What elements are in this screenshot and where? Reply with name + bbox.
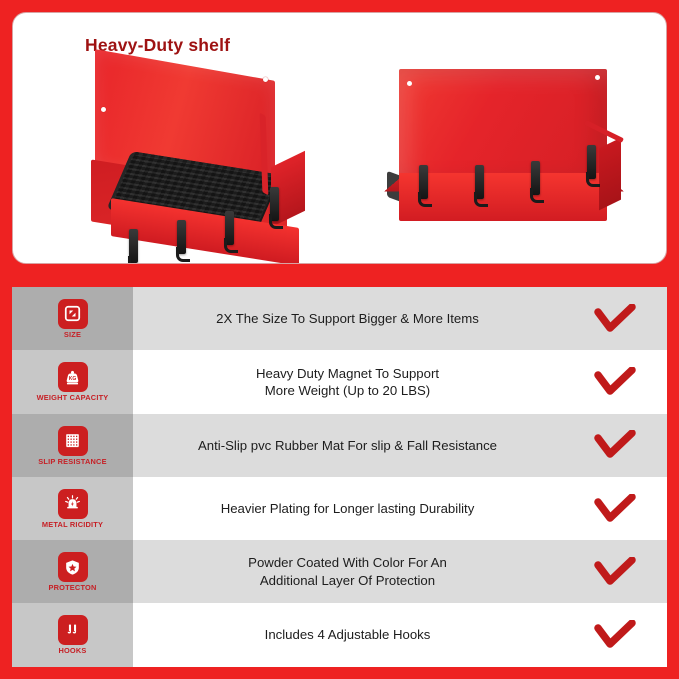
mounting-hole-icon: [595, 75, 600, 80]
feature-text-cell: Anti-Slip pvc Rubber Mat For slip & Fall…: [133, 414, 562, 477]
hook-icon: [129, 229, 138, 263]
hook-icon: [225, 211, 234, 245]
slip-resistance-icon: [58, 426, 88, 456]
table-row: PROTECTON Powder Coated With Color For A…: [12, 540, 667, 603]
hook-icon: [419, 165, 428, 199]
feature-icon-label: HOOKS: [58, 647, 86, 654]
hook-icon: [531, 161, 540, 195]
mounting-hole-icon: [101, 107, 106, 112]
feature-text-cell: Powder Coated With Color For An Addition…: [133, 540, 562, 603]
shelf-back-panel: [399, 69, 607, 181]
shelf-side-panel: [599, 138, 621, 211]
weight-capacity-icon: KG: [58, 362, 88, 392]
shelf-angled-view-with-rubber-mat: [65, 63, 325, 258]
feature-icon-cell: HOOKS: [12, 603, 133, 666]
feature-check-cell: [562, 287, 667, 350]
feature-text-cell: Includes 4 Adjustable Hooks: [133, 603, 562, 666]
panel-divider: [0, 264, 679, 286]
hook-icon: [270, 187, 279, 221]
mounting-hole-icon: [263, 77, 268, 82]
hook-icon: [587, 145, 596, 179]
feature-check-cell: [562, 414, 667, 477]
feature-text: 2X The Size To Support Bigger & More Ite…: [216, 310, 479, 327]
feature-text: Heavy Duty Magnet To Support More Weight…: [256, 365, 439, 400]
feature-check-cell: [562, 603, 667, 666]
feature-icon-label: SLIP RESISTANCE: [38, 458, 106, 465]
table-row: KG WEIGHT CAPACITY Heavy Duty Magnet To …: [12, 350, 667, 413]
hooks-icon: [58, 615, 88, 645]
feature-check-cell: [562, 350, 667, 413]
feature-icon-label: WEIGHT CAPACITY: [37, 394, 109, 401]
check-mark-icon: [594, 430, 636, 460]
feature-text: Includes 4 Adjustable Hooks: [265, 626, 431, 643]
table-row: SIZE 2X The Size To Support Bigger & Mor…: [12, 287, 667, 350]
check-mark-icon: [594, 557, 636, 587]
feature-text-cell: 2X The Size To Support Bigger & More Ite…: [133, 287, 562, 350]
feature-check-cell: [562, 540, 667, 603]
check-mark-icon: [594, 494, 636, 524]
metal-rigidity-icon: [58, 489, 88, 519]
feature-icon-cell: SLIP RESISTANCE: [12, 414, 133, 477]
feature-icon-cell: KG WEIGHT CAPACITY: [12, 350, 133, 413]
check-mark-icon: [594, 304, 636, 334]
svg-text:KG: KG: [69, 376, 77, 382]
feature-check-cell: [562, 477, 667, 540]
table-row: HOOKS Includes 4 Adjustable Hooks: [12, 603, 667, 666]
shelf-front-view: [371, 65, 633, 250]
infographic-page: Heavy-Duty shelf: [0, 0, 679, 679]
feature-icon-cell: PROTECTON: [12, 540, 133, 603]
table-row: METAL RICIDITY Heavier Plating for Longe…: [12, 477, 667, 540]
feature-text: Heavier Plating for Longer lasting Durab…: [221, 500, 475, 517]
product-photo-panel: Heavy-Duty shelf: [12, 12, 667, 264]
protection-icon: [58, 552, 88, 582]
feature-text-cell: Heavier Plating for Longer lasting Durab…: [133, 477, 562, 540]
feature-icon-cell: METAL RICIDITY: [12, 477, 133, 540]
hook-icon: [177, 220, 186, 254]
feature-text: Anti-Slip pvc Rubber Mat For slip & Fall…: [198, 437, 497, 454]
table-row: SLIP RESISTANCE Anti-Slip pvc Rubber Mat…: [12, 414, 667, 477]
check-mark-icon: [594, 367, 636, 397]
mounting-hole-icon: [407, 81, 412, 86]
feature-table: SIZE 2X The Size To Support Bigger & Mor…: [12, 287, 667, 667]
feature-icon-label: SIZE: [64, 331, 81, 338]
feature-icon-label: METAL RICIDITY: [42, 521, 103, 528]
hook-icon: [475, 165, 484, 199]
feature-icon-label: PROTECTON: [48, 584, 96, 591]
feature-icon-cell: SIZE: [12, 287, 133, 350]
feature-text-cell: Heavy Duty Magnet To Support More Weight…: [133, 350, 562, 413]
size-icon: [58, 299, 88, 329]
feature-text: Powder Coated With Color For An Addition…: [248, 554, 447, 589]
check-mark-icon: [594, 620, 636, 650]
